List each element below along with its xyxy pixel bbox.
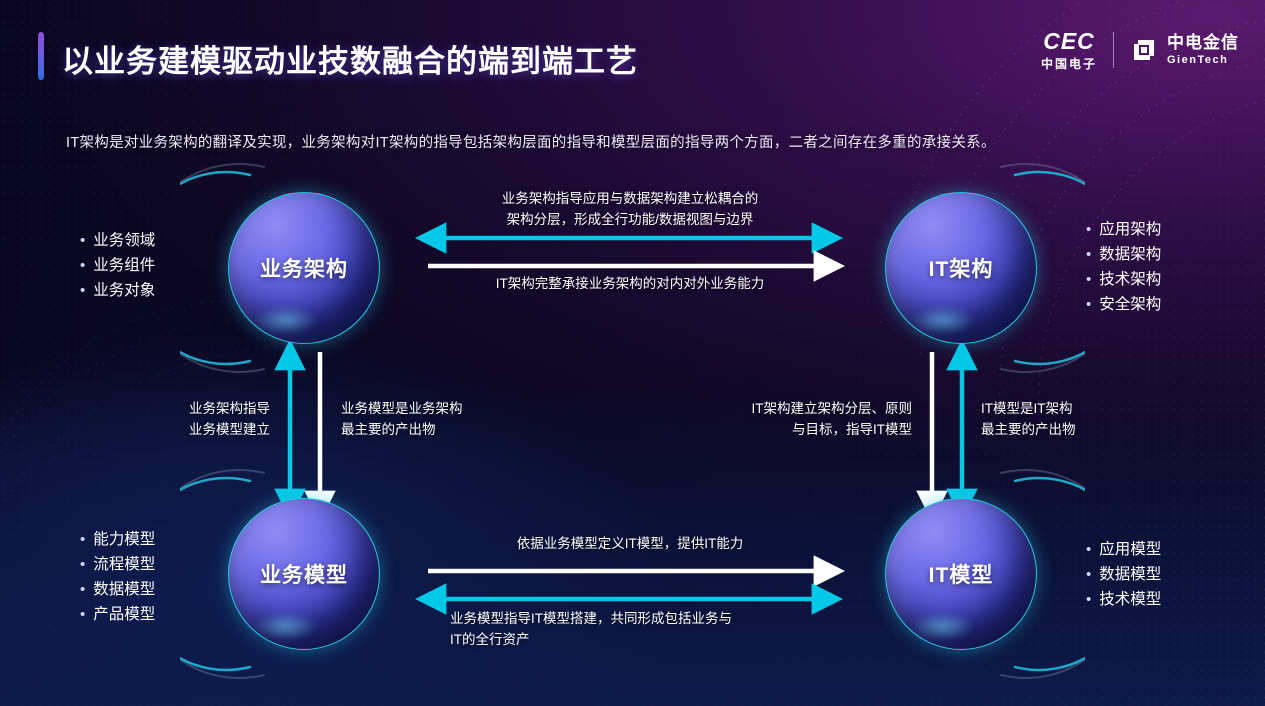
logo-group: CEC 中国电子 中电金信 GienTech (1041, 30, 1239, 70)
bullet-label: 数据架构 (1099, 242, 1161, 267)
title-accent-bar (38, 32, 44, 80)
list-item: •安全架构 (1086, 292, 1161, 317)
subtitle-text: IT架构是对业务架构的翻译及实现，业务架构对IT架构的指导包括架构层面的指导和模… (66, 131, 996, 152)
connector-label-line: IT的全行资产 (450, 629, 850, 650)
connector-label-left-cyan: 业务架构指导 业务模型建立 (100, 398, 270, 440)
bullet-label: 数据模型 (93, 577, 155, 602)
bullet-label: 业务对象 (93, 278, 155, 303)
bullet-dot-icon: • (1086, 292, 1091, 317)
list-item: •数据模型 (1086, 562, 1161, 587)
list-item: •技术模型 (1086, 587, 1161, 612)
connector-label-line: 架构分层，形成全行功能/数据视图与边界 (445, 209, 815, 230)
node-business-model[interactable]: 业务模型 (228, 498, 380, 650)
connector-label-line: IT架构完整承接业务架构的对内对外业务能力 (445, 273, 815, 294)
bullets-top-right: •应用架构 •数据架构 •技术架构 •安全架构 (1086, 217, 1161, 317)
list-item: •产品模型 (80, 602, 155, 627)
slide-canvas: 以业务建模驱动业技数融合的端到端工艺 CEC 中国电子 中电金信 GienTec… (0, 0, 1265, 706)
connector-label-left-white: 业务模型是业务架构 最主要的产出物 (341, 398, 541, 440)
list-item: •应用架构 (1086, 217, 1161, 242)
bullet-dot-icon: • (1086, 537, 1091, 562)
bullet-dot-icon: • (80, 253, 85, 278)
bullets-bottom-right: •应用模型 •数据模型 •技术模型 (1086, 537, 1161, 612)
connector-label-right-cyan: IT模型是IT架构 最主要的产出物 (981, 398, 1171, 440)
gientech-logo-en: GienTech (1167, 55, 1239, 66)
bullet-dot-icon: • (1086, 242, 1091, 267)
bullet-dot-icon: • (80, 577, 85, 602)
connector-label-line: IT模型是IT架构 (981, 398, 1171, 419)
slide-header: 以业务建模驱动业技数融合的端到端工艺 CEC 中国电子 中电金信 GienTec… (0, 0, 1265, 110)
node-label: 业务架构 (228, 192, 380, 344)
bullet-label: 能力模型 (93, 527, 155, 552)
bullet-dot-icon: • (1086, 267, 1091, 292)
bullet-label: 技术架构 (1099, 267, 1161, 292)
cec-logo-cn: 中国电子 (1041, 58, 1097, 70)
cec-logo-en: CEC (1043, 30, 1095, 53)
connector-label-line: 业务模型指导IT模型搭建，共同形成包括业务与 (450, 608, 850, 629)
connector-label-bottom-cyan: 业务模型指导IT模型搭建，共同形成包括业务与 IT的全行资产 (450, 608, 850, 650)
connector-label-line: 业务架构指导应用与数据架构建立松耦合的 (445, 188, 815, 209)
list-item: •数据架构 (1086, 242, 1161, 267)
connector-label-line: 依据业务模型定义IT模型，提供IT能力 (445, 533, 815, 554)
bullets-bottom-left: •能力模型 •流程模型 •数据模型 •产品模型 (80, 527, 155, 627)
connector-label-line: 最主要的产出物 (341, 419, 541, 440)
bullet-label: 技术模型 (1099, 587, 1161, 612)
connector-label-top-cyan: 业务架构指导应用与数据架构建立松耦合的 架构分层，形成全行功能/数据视图与边界 (445, 188, 815, 230)
gientech-logo-cn: 中电金信 (1167, 34, 1239, 51)
bullet-dot-icon: • (80, 602, 85, 627)
connector-label-top-white: IT架构完整承接业务架构的对内对外业务能力 (445, 273, 815, 294)
bullet-label: 应用架构 (1099, 217, 1161, 242)
node-label: 业务模型 (228, 498, 380, 650)
connector-label-right-white: IT架构建立架构分层、原则 与目标，指导IT模型 (700, 398, 912, 440)
list-item: •应用模型 (1086, 537, 1161, 562)
list-item: •流程模型 (80, 552, 155, 577)
node-label: IT架构 (885, 192, 1037, 344)
node-it-architecture[interactable]: IT架构 (885, 192, 1037, 344)
bullet-dot-icon: • (80, 552, 85, 577)
bullet-label: 应用模型 (1099, 537, 1161, 562)
bullet-label: 安全架构 (1099, 292, 1161, 317)
gientech-logo-icon (1130, 36, 1158, 64)
gientech-logo: 中电金信 GienTech (1130, 34, 1239, 66)
connector-label-line: 业务模型建立 (100, 419, 270, 440)
bullet-dot-icon: • (80, 228, 85, 253)
connector-label-line: 业务架构指导 (100, 398, 270, 419)
list-item: •技术架构 (1086, 267, 1161, 292)
node-it-model[interactable]: IT模型 (885, 498, 1037, 650)
bullet-dot-icon: • (1086, 587, 1091, 612)
connector-label-line: 与目标，指导IT模型 (700, 419, 912, 440)
list-item: •业务对象 (80, 278, 155, 303)
bullet-label: 业务领域 (93, 228, 155, 253)
connector-label-line: 最主要的产出物 (981, 419, 1171, 440)
bullet-label: 流程模型 (93, 552, 155, 577)
bullet-label: 产品模型 (93, 602, 155, 627)
bullet-dot-icon: • (80, 278, 85, 303)
bullet-label: 业务组件 (93, 253, 155, 278)
list-item: •业务领域 (80, 228, 155, 253)
cec-logo-icon: CEC 中国电子 (1041, 30, 1097, 70)
list-item: •能力模型 (80, 527, 155, 552)
bullet-dot-icon: • (1086, 562, 1091, 587)
connector-label-line: 业务模型是业务架构 (341, 398, 541, 419)
list-item: •业务组件 (80, 253, 155, 278)
page-title: 以业务建模驱动业技数融合的端到端工艺 (62, 36, 638, 81)
bullet-dot-icon: • (80, 527, 85, 552)
bullet-dot-icon: • (1086, 217, 1091, 242)
connector-label-bottom-white: 依据业务模型定义IT模型，提供IT能力 (445, 533, 815, 554)
node-label: IT模型 (885, 498, 1037, 650)
node-business-architecture[interactable]: 业务架构 (228, 192, 380, 344)
connector-label-line: IT架构建立架构分层、原则 (700, 398, 912, 419)
bullet-label: 数据模型 (1099, 562, 1161, 587)
list-item: •数据模型 (80, 577, 155, 602)
bullets-top-left: •业务领域 •业务组件 •业务对象 (80, 228, 155, 303)
logo-divider (1113, 32, 1114, 68)
